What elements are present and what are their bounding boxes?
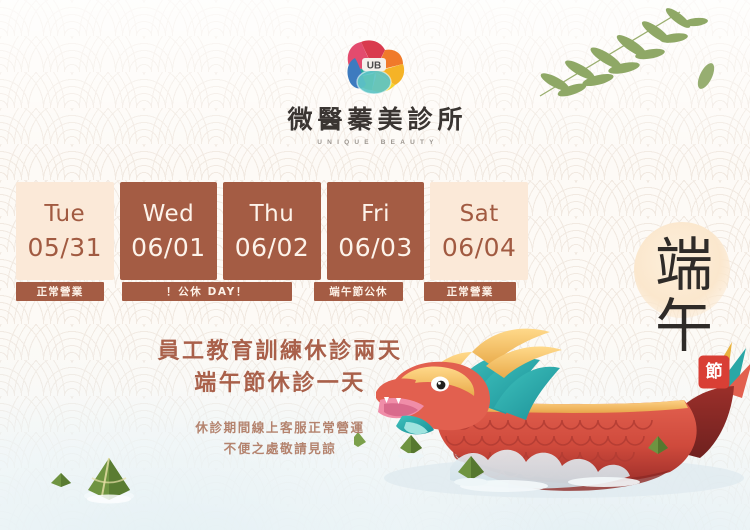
card-date: 06/02 (235, 235, 310, 260)
card-day-of-week: Wed (143, 203, 195, 226)
festival-calligraphy: 端 午 節 (636, 222, 736, 392)
status-spacer (110, 282, 116, 301)
status-badge-wed-thu: ！公休 DAY！ (122, 282, 292, 301)
schedule-card-sat: Sat 06/04 (430, 182, 528, 280)
card-day-of-week: Thu (250, 203, 295, 226)
card-day-of-week: Sat (460, 203, 499, 226)
status-badge-tue: 正常營業 (16, 282, 104, 301)
calligraphy-char-wu: 午 (644, 297, 724, 355)
card-date: 05/31 (28, 235, 103, 260)
card-date: 06/04 (442, 235, 517, 260)
card-date: 06/01 (131, 235, 206, 260)
status-badge-sat: 正常營業 (424, 282, 516, 301)
red-seal-stamp: 節 (700, 357, 728, 387)
card-date: 06/03 (338, 235, 413, 260)
status-spacer (298, 282, 308, 301)
notice-headline-2: 端午節休診一天 (0, 368, 560, 400)
calligraphy-char-duan: 端 (644, 236, 724, 294)
schedule-card-fri: Fri 06/03 (327, 182, 425, 280)
schedule-card-tue: Tue 05/31 (16, 182, 114, 280)
card-day-of-week: Tue (44, 203, 85, 226)
schedule-card-thu: Thu 06/02 (223, 182, 321, 280)
fan-flower-logo-icon: UB (332, 36, 418, 100)
schedule-card-wed: Wed 06/01 (120, 182, 218, 280)
brand-name-en: UNIQUE BEAUTY (0, 139, 750, 146)
notice-headline-1: 員工教育訓練休診兩天 (0, 336, 560, 368)
status-badge-fri: 端午節公休 (314, 282, 403, 301)
schedule-card-row: Tue 05/31 Wed 06/01 Thu 06/02 Fri 06/03 … (16, 182, 528, 280)
notice-subtext-2: 不便之處敬請見諒 (0, 438, 560, 460)
promo-poster: UB 微醫蓁美診所 UNIQUE BEAUTY Tue 05/31 Wed 06… (0, 0, 750, 530)
seal-char: 節 (706, 364, 723, 381)
notice-subtext-1: 休診期間線上客服正常營運 (0, 417, 560, 439)
status-spacer (409, 282, 418, 301)
brand-header: UB 微醫蓁美診所 UNIQUE BEAUTY (0, 36, 750, 146)
schedule-status-row: 正常營業 ！公休 DAY！ 端午節公休 正常營業 (16, 282, 528, 301)
card-day-of-week: Fri (361, 203, 390, 226)
notice-message-block: 員工教育訓練休診兩天 端午節休診一天 休診期間線上客服正常營運 不便之處敬請見諒 (0, 336, 560, 460)
brand-name-cn: 微醫蓁美診所 (0, 106, 750, 134)
logo-ub-text: UB (367, 61, 381, 72)
